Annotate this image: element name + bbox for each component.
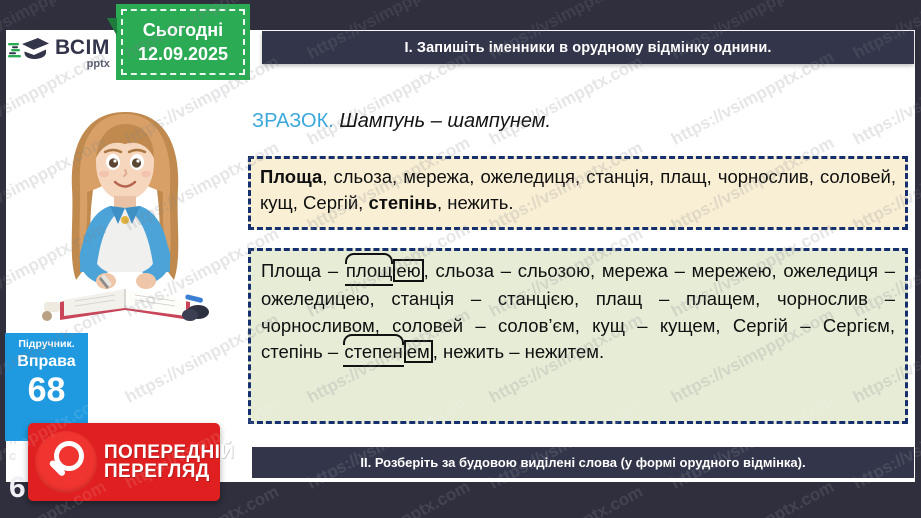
preview-line-1: ПОПЕРЕДНІЙ bbox=[104, 443, 234, 462]
exercise-source-label: Підручник. bbox=[5, 339, 88, 351]
behind-number: 6 bbox=[9, 469, 26, 507]
answers-box: Площа – площею, сльоза – сльозою, мережа… bbox=[248, 248, 908, 424]
word-list-box: Площа, сльоза, мережа, ожеледиця, станці… bbox=[248, 156, 908, 230]
exercise-word-label: Вправа bbox=[5, 352, 88, 371]
morpheme-ending-eyu: ею bbox=[393, 259, 423, 282]
answers-text: Площа – площею, сльоза – сльозою, мережа… bbox=[261, 258, 895, 367]
date-badge: Сьогодні 12.09.2025 bbox=[116, 4, 250, 80]
word-list-middle: , сльоза, мережа, ожеледиця, станція, пл… bbox=[260, 166, 896, 213]
behind-line-2: с bbox=[9, 448, 26, 464]
ribbon-fold bbox=[107, 18, 117, 36]
magnifier-icon bbox=[35, 431, 97, 493]
sample-text: Шампунь – шампунем. bbox=[339, 110, 551, 132]
task-banner-bottom-text: II. Розберіть за будовою виділені слова … bbox=[360, 455, 805, 470]
answers-post: , нежить – нежитем. bbox=[433, 341, 604, 362]
word-bold-ploshcha: Площа bbox=[260, 166, 322, 187]
watermark-text: https://vsimppptx.com bbox=[668, 477, 838, 518]
sample-label: ЗРАЗОК. bbox=[252, 110, 334, 132]
morpheme-root-ploshch: площ bbox=[345, 258, 394, 286]
watermark-text: https://vsimppptx.com bbox=[304, 477, 474, 518]
graduation-cap-icon bbox=[8, 36, 50, 70]
word-list-tail: , нежить. bbox=[437, 192, 514, 213]
brand-logo: ВСІМ pptx bbox=[8, 26, 118, 80]
watermark-text: https://vsimpptx.com bbox=[850, 482, 921, 518]
preview-line-2: ПЕРЕГЛЯД bbox=[104, 462, 234, 481]
behind-overlay-text: п с 6 bbox=[9, 432, 26, 506]
date-label: Сьогодні bbox=[143, 20, 223, 41]
task-banner-top-text: I. Запишіть іменники в орудному відмінку… bbox=[405, 40, 772, 56]
sample-line: ЗРАЗОК. Шампунь – шампунем. bbox=[252, 110, 551, 133]
preview-badge[interactable]: ПОПЕРЕДНІЙ ПЕРЕГЛЯД bbox=[28, 423, 220, 501]
morpheme-root-stepen: степен bbox=[343, 339, 403, 367]
student-illustration bbox=[30, 96, 220, 334]
answers-pre: Площа – bbox=[261, 260, 345, 281]
date-value: 12.09.2025 bbox=[138, 44, 228, 65]
logo-subtitle: pptx bbox=[87, 59, 110, 70]
word-bold-stepin: степінь bbox=[368, 192, 437, 213]
exercise-number: 68 bbox=[5, 373, 88, 407]
logo-title: ВСІМ bbox=[55, 37, 110, 58]
task-banner-top: I. Запишіть іменники в орудному відмінку… bbox=[262, 31, 914, 64]
task-banner-bottom: II. Розберіть за будовою виділені слова … bbox=[252, 447, 914, 478]
watermark-text: https://vsimpptx.com bbox=[486, 482, 646, 518]
word-list-text: Площа, сльоза, мережа, ожеледиця, станці… bbox=[260, 164, 896, 217]
morpheme-ending-em: ем bbox=[404, 340, 433, 363]
